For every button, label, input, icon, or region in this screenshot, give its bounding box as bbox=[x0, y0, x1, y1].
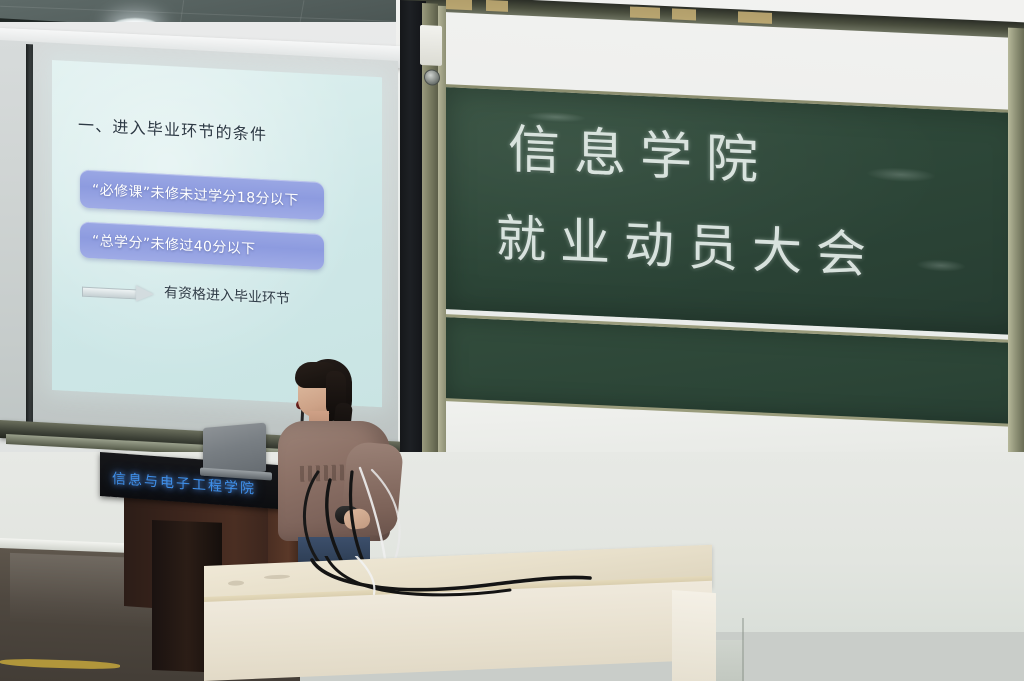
chalk-smudge bbox=[916, 258, 966, 272]
blackboard-tape-mark bbox=[630, 6, 660, 18]
slide-conclusion-text: 有资格进入毕业环节 bbox=[164, 282, 290, 309]
blackboard-tape-mark bbox=[486, 0, 508, 12]
blackboard-rail-strip bbox=[438, 6, 446, 518]
blackboard-tape-mark bbox=[446, 0, 472, 10]
lecture-hall-photo: 一、进入毕业环节的条件 “必修课”未修未过学分18分以下 “总学分”未修过40分… bbox=[0, 0, 1024, 681]
blackboard-tape-mark bbox=[672, 8, 696, 20]
slide-condition-box-1: “必修课”未修未过学分18分以下 bbox=[80, 169, 324, 220]
projector-screen-left-band bbox=[26, 44, 33, 430]
wall-seam bbox=[742, 618, 744, 681]
arrow-head bbox=[136, 285, 154, 302]
slide-condition-text-2: “总学分”未修过40分以下 bbox=[80, 229, 256, 258]
blackboard-roller-icon bbox=[424, 69, 440, 86]
chalk-smudge bbox=[866, 166, 936, 183]
slide-condition-box-2: “总学分”未修过40分以下 bbox=[80, 221, 324, 270]
conference-table-side bbox=[672, 590, 716, 681]
table-mark bbox=[228, 580, 244, 586]
blackboard-mount-bracket bbox=[420, 25, 442, 66]
slide-title: 一、进入毕业环节的条件 bbox=[78, 111, 267, 145]
blackboard-tape-mark bbox=[738, 11, 772, 24]
slide-condition-text-1: “必修课”未修未过学分18分以下 bbox=[80, 178, 299, 209]
table-mark bbox=[264, 574, 290, 579]
arrow-shaft bbox=[82, 287, 139, 300]
ceiling-tile-seam bbox=[0, 6, 430, 24]
blackboard-heading-line1: 信息学院 bbox=[508, 107, 772, 194]
slide-arrow-icon bbox=[82, 284, 156, 302]
